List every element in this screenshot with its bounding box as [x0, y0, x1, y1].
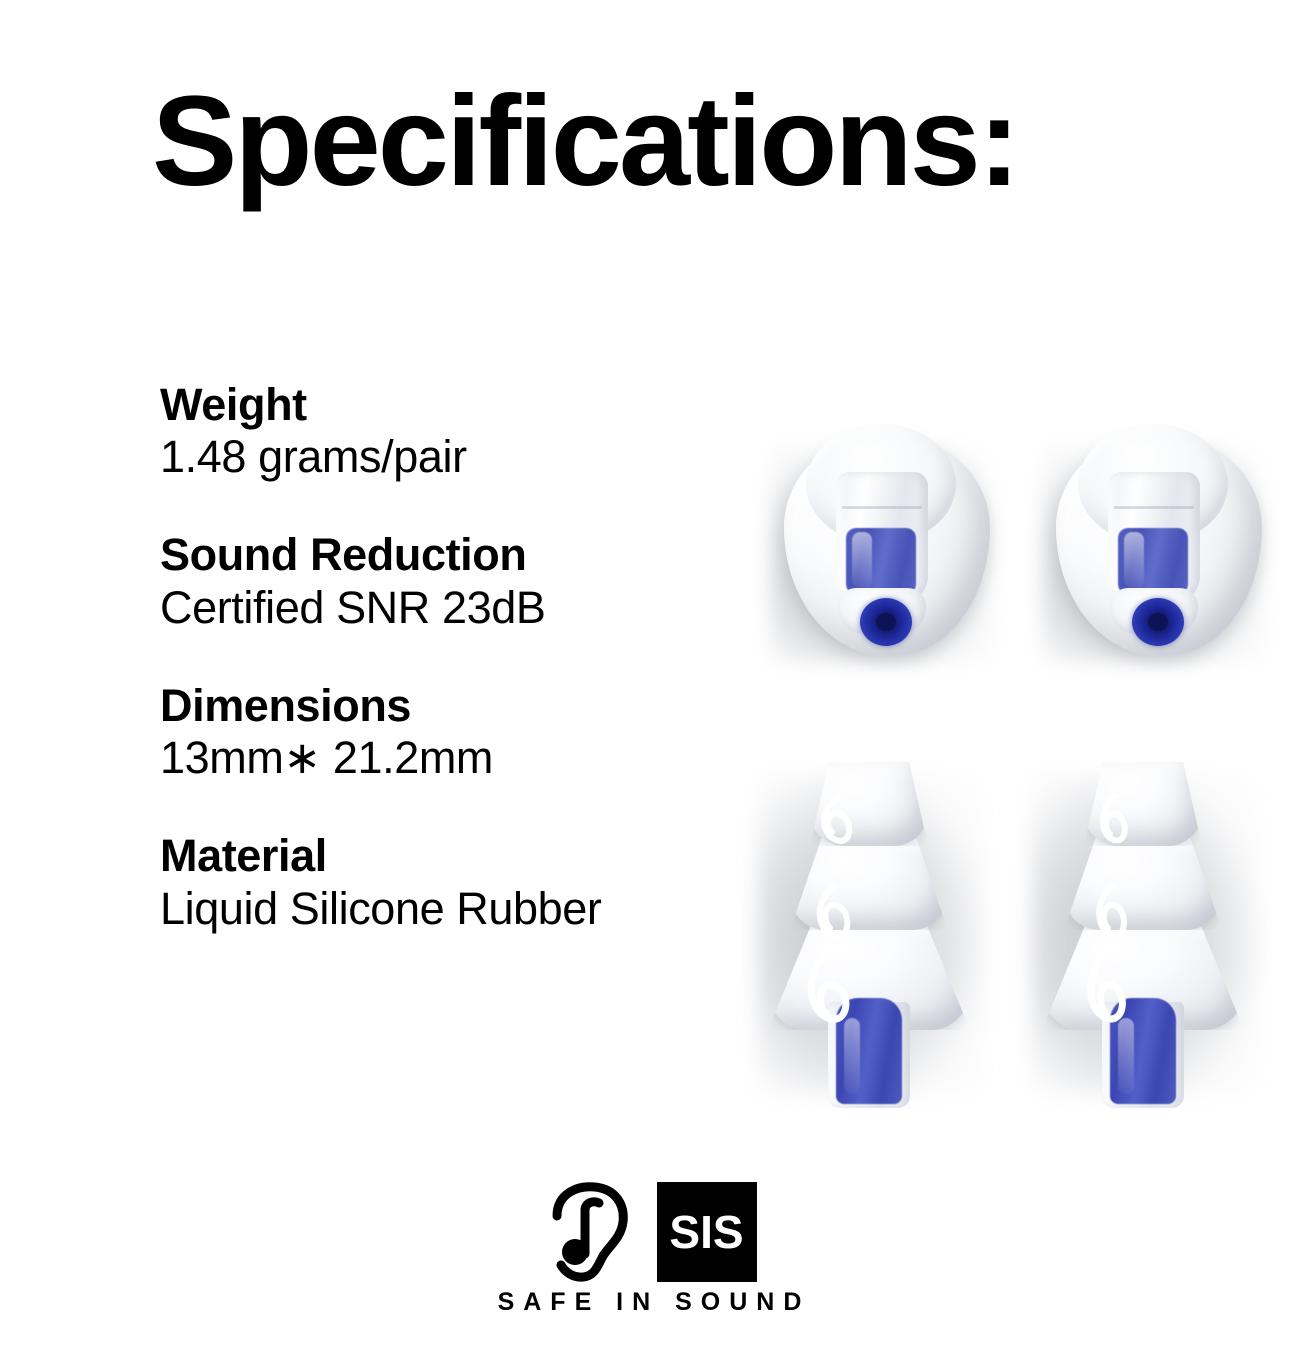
earplug-barrel-seam: [842, 506, 922, 509]
spec-value: Certified SNR 23dB: [160, 581, 760, 635]
earplug-flange-top: [810, 762, 928, 846]
product-image-group: [700, 400, 1299, 1160]
earplug-front-left: [764, 410, 1010, 678]
earplug-blue-filter: [1110, 998, 1176, 1104]
spec-label: Sound Reduction: [160, 530, 760, 580]
page-title: Specifications:: [152, 78, 1152, 206]
spec-label: Dimensions: [160, 681, 760, 731]
spec-value: 13mm∗ 21.2mm: [160, 731, 760, 785]
earplug-pair-profile-view: [740, 750, 1280, 1150]
spec-label: Material: [160, 831, 760, 881]
spec-value: Liquid Silicone Rubber: [160, 882, 760, 936]
earplug-profile-right: [1032, 750, 1288, 1122]
earplug-front-right: [1036, 410, 1282, 678]
brand-logo: SIS SAFE IN SOUND: [0, 1180, 1299, 1315]
spec-value: 1.48 grams/pair: [160, 430, 760, 484]
ear-with-music-note-icon: [543, 1180, 639, 1284]
spec-item-weight: Weight 1.48 grams/pair: [160, 380, 760, 484]
sis-badge: SIS: [657, 1182, 757, 1282]
spec-item-dimensions: Dimensions 13mm∗ 21.2mm: [160, 681, 760, 785]
earplug-pair-front-view: [740, 410, 1280, 690]
earplug-barrel-seam: [1114, 506, 1194, 509]
spec-item-material: Material Liquid Silicone Rubber: [160, 831, 760, 935]
logo-marks: SIS: [543, 1180, 757, 1284]
earplug-sound-port: [860, 598, 912, 646]
sis-badge-text: SIS: [669, 1209, 743, 1255]
spec-item-sound-reduction: Sound Reduction Certified SNR 23dB: [160, 530, 760, 634]
specifications-list: Weight 1.48 grams/pair Sound Reduction C…: [160, 380, 760, 936]
earplug-sound-port: [1132, 598, 1184, 646]
earplug-flange-top: [1084, 762, 1202, 846]
earplug-blue-filter: [1118, 528, 1188, 594]
earplug-profile-left: [758, 750, 1014, 1122]
brand-tagline: SAFE IN SOUND: [489, 1290, 811, 1315]
earplug-blue-filter: [836, 998, 902, 1104]
earplug-blue-filter: [846, 528, 916, 594]
spec-label: Weight: [160, 380, 760, 430]
